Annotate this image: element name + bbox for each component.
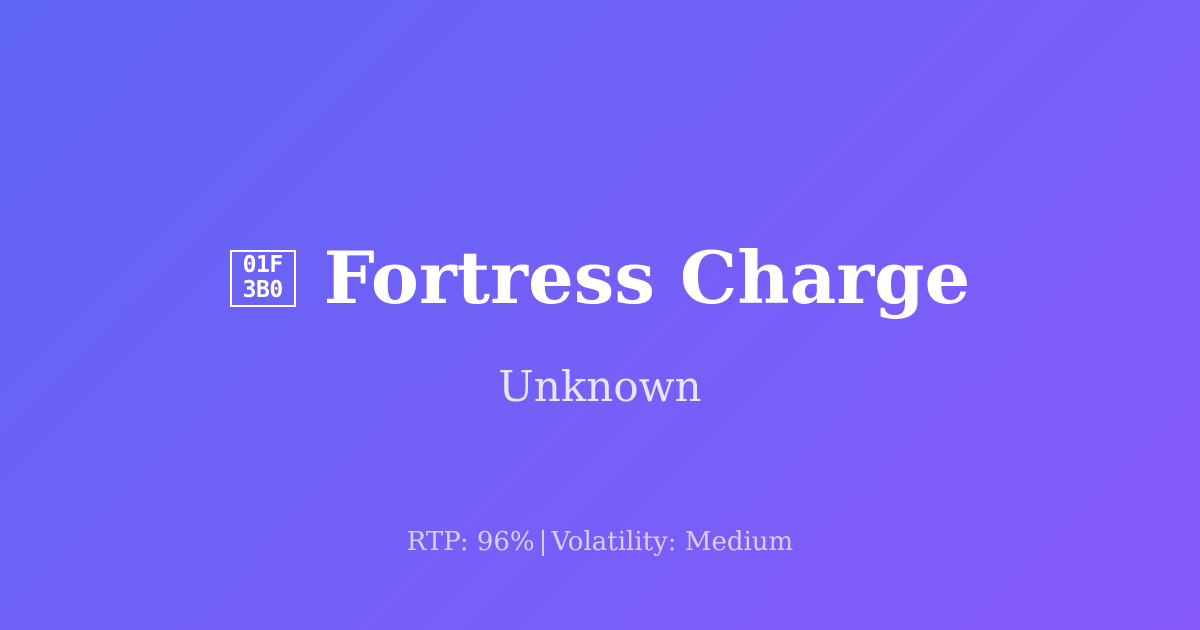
slot-machine-icon-codepoint-bottom: 3B0 xyxy=(243,278,283,303)
volatility-label: Volatility: Medium xyxy=(551,527,793,557)
title-row: 01F 3B0 Fortress Charge xyxy=(0,232,1200,324)
provider-label: Unknown xyxy=(0,362,1200,412)
game-meta: RTP: 96%|Volatility: Medium xyxy=(0,526,1200,558)
rtp-label: RTP: 96% xyxy=(407,527,535,557)
page-title: Fortress Charge xyxy=(324,237,971,319)
slot-machine-icon-codepoint-top: 01F xyxy=(243,253,283,278)
og-card: 01F 3B0 Fortress Charge Unknown RTP: 96%… xyxy=(0,0,1200,630)
meta-separator: | xyxy=(535,527,552,557)
slot-machine-icon: 01F 3B0 xyxy=(230,250,296,307)
